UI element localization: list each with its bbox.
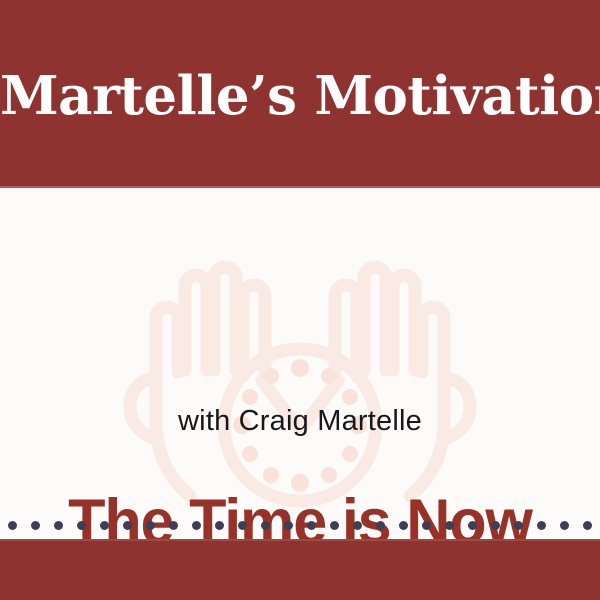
divider-dot — [54, 521, 63, 530]
divider-dot — [77, 521, 86, 530]
divider-dot — [491, 521, 500, 530]
divider-dot — [169, 521, 178, 530]
divider-dot — [537, 521, 546, 530]
divider-dot — [238, 521, 247, 530]
divider-dot — [215, 521, 224, 530]
divider-dot — [422, 521, 431, 530]
divider-dot — [445, 521, 454, 530]
show-title: Martelle’s Motivation — [0, 70, 600, 123]
divider-dot — [146, 521, 155, 530]
divider-dot — [123, 521, 132, 530]
divider-dot — [284, 521, 293, 530]
divider-dot — [330, 521, 339, 530]
divider-dot — [468, 521, 477, 530]
divider-dot — [192, 521, 201, 530]
divider-dot — [560, 521, 569, 530]
divider-dot — [261, 521, 270, 530]
divider-dot — [353, 521, 362, 530]
podcast-cover-art: Martelle’s Motivation — [0, 0, 600, 600]
cover-body: with Craig Martelle The Time is Now AM — [0, 188, 600, 539]
byline-host-name: with Craig Martelle — [0, 407, 600, 436]
dotted-divider — [0, 518, 600, 532]
divider-dot — [583, 521, 592, 530]
divider-dot — [514, 521, 523, 530]
divider-dot — [399, 521, 408, 530]
divider-dot — [8, 521, 17, 530]
divider-dot — [307, 521, 316, 530]
bottom-red-banner — [0, 539, 600, 600]
bottom-banner-edge-line — [0, 539, 600, 541]
divider-dot — [100, 521, 109, 530]
divider-dot — [31, 521, 40, 530]
divider-dot — [376, 521, 385, 530]
